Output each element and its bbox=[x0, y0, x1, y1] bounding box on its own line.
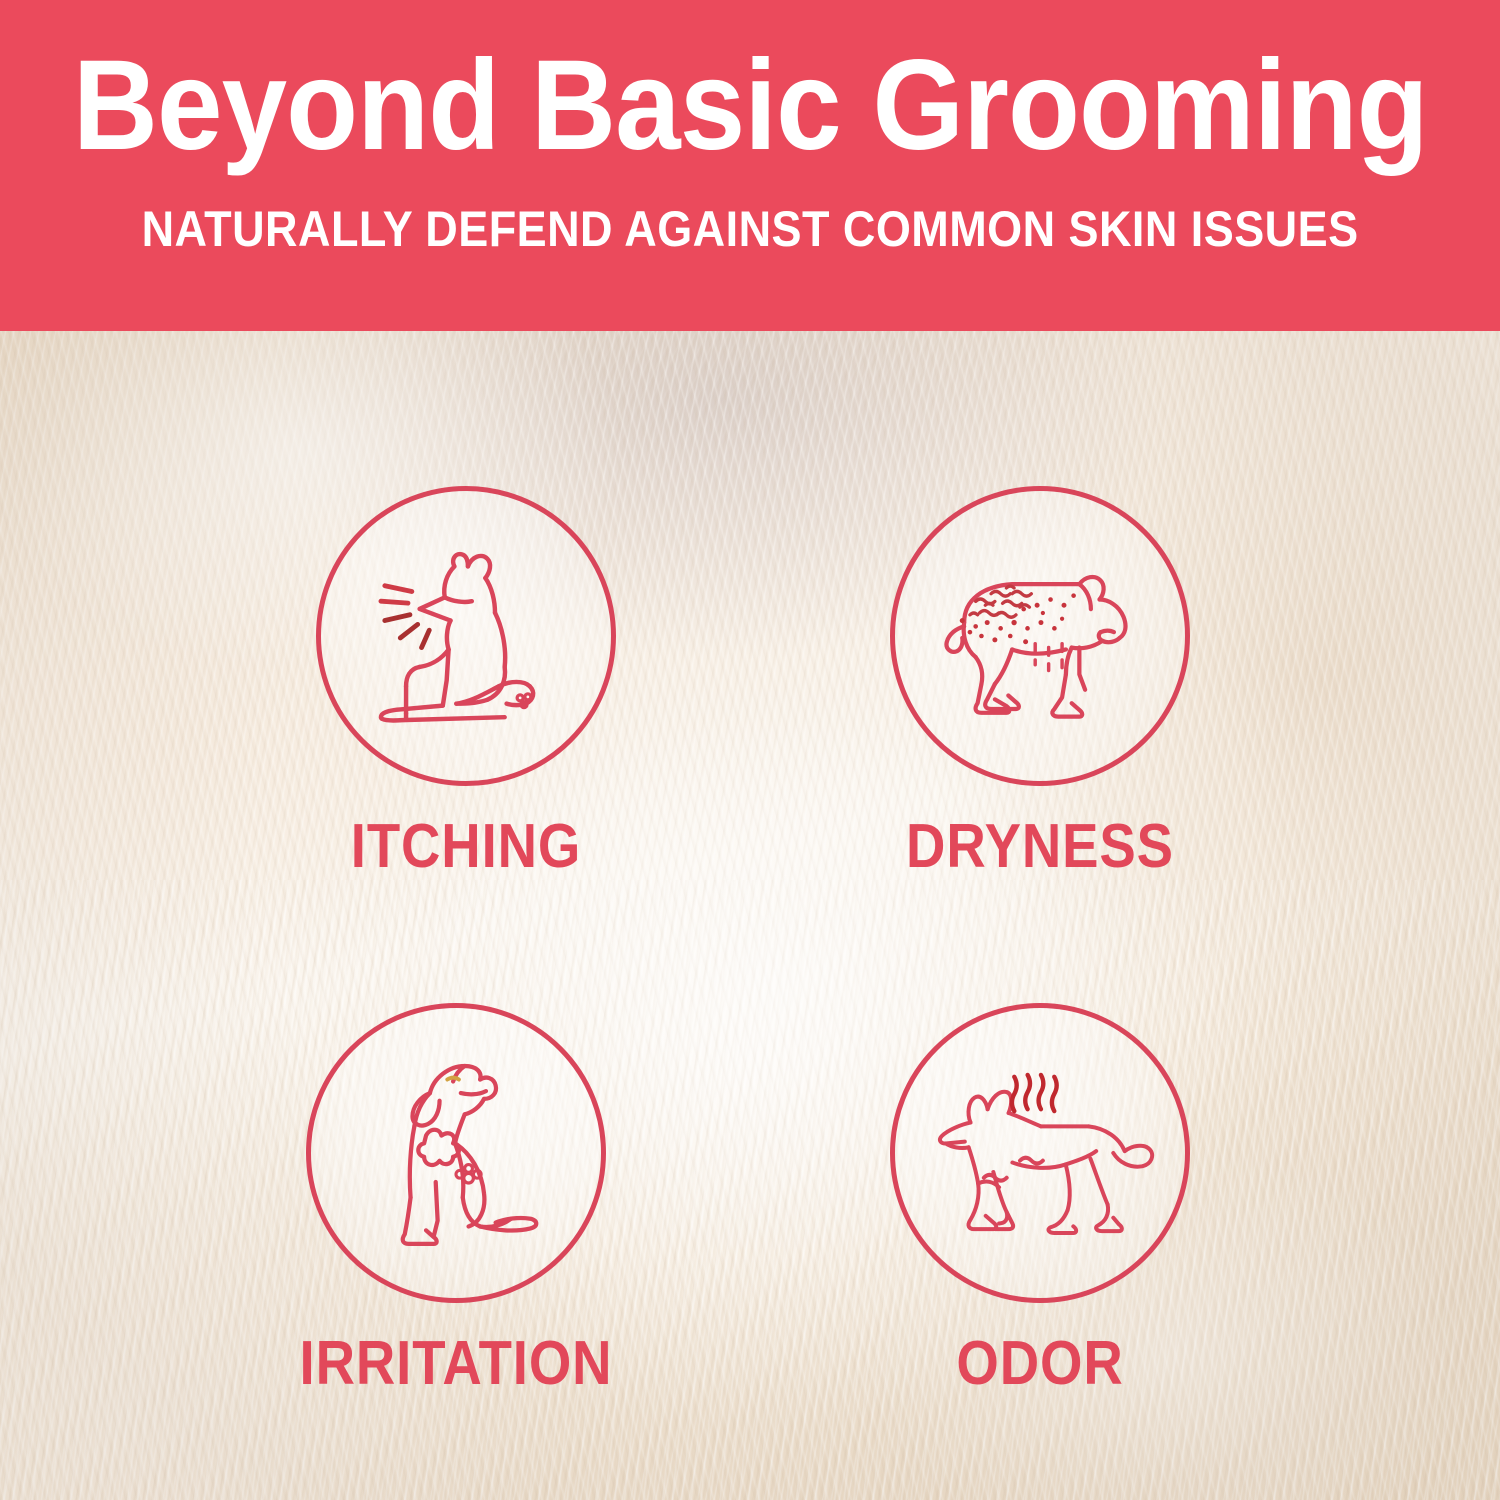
page-title: Beyond Basic Grooming bbox=[73, 42, 1428, 170]
irritation-badge bbox=[306, 1003, 606, 1303]
benefit-item-itching: ITCHING bbox=[256, 486, 676, 878]
dog-irritated-patch-icon bbox=[342, 1037, 570, 1269]
benefit-grid: ITCHING bbox=[0, 331, 1500, 1500]
dog-flaky-skin-icon bbox=[920, 520, 1160, 752]
dryness-badge bbox=[890, 486, 1190, 786]
dog-odor-waves-icon bbox=[921, 1038, 1159, 1268]
benefit-item-irritation: IRRITATION bbox=[246, 1003, 666, 1395]
benefit-label-itching: ITCHING bbox=[281, 816, 651, 878]
header-banner: Beyond Basic Grooming NATURALLY DEFEND A… bbox=[0, 0, 1500, 331]
itching-badge bbox=[316, 486, 616, 786]
page-subtitle: NATURALLY DEFEND AGAINST COMMON SKIN ISS… bbox=[142, 200, 1359, 258]
benefit-label-dryness: DRYNESS bbox=[855, 816, 1225, 878]
benefit-label-irritation: IRRITATION bbox=[271, 1333, 641, 1395]
odor-badge bbox=[890, 1003, 1190, 1303]
benefit-label-odor: ODOR bbox=[855, 1333, 1225, 1395]
poster: Beyond Basic Grooming NATURALLY DEFEND A… bbox=[0, 0, 1500, 1500]
benefit-item-odor: ODOR bbox=[830, 1003, 1250, 1395]
benefit-item-dryness: DRYNESS bbox=[830, 486, 1250, 878]
dog-scratching-icon bbox=[350, 520, 582, 752]
